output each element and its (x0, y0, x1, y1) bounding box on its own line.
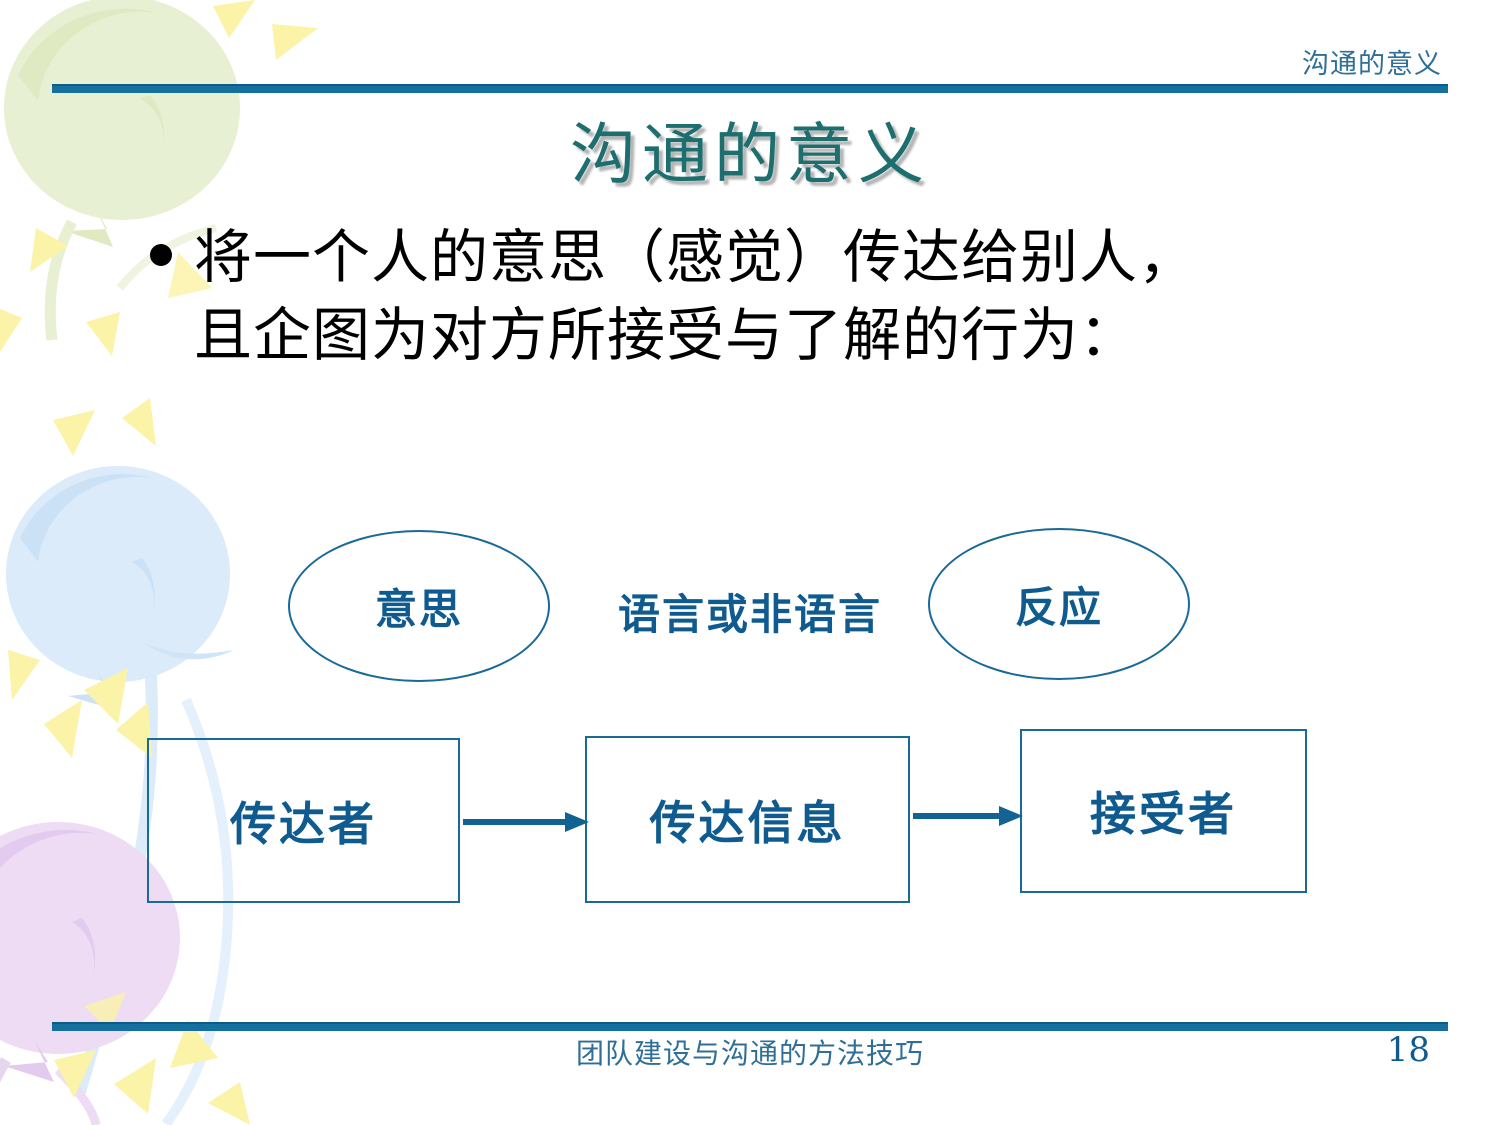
diagram-box-receiver-label: 接受者 (1090, 778, 1237, 844)
diagram-channel-label: 语言或非语言 (592, 581, 908, 642)
diagram-box-message[interactable]: 传达信息 (585, 736, 910, 903)
diagram-ellipse-meaning[interactable]: 意思 (288, 530, 550, 682)
diagram-ellipse-response-label: 反应 (1015, 574, 1103, 635)
diagram-box-sender-label: 传达者 (230, 788, 377, 854)
communication-flow-diagram: 意思 语言或非语言 反应 传达者 传达信息 接受者 (0, 0, 1500, 1125)
arrow-message-to-receiver (913, 804, 1023, 828)
diagram-box-message-label: 传达信息 (650, 787, 846, 853)
slide-page-number: 18 (1387, 1030, 1430, 1070)
slide: 沟通的意义 沟通的意义 将一个人的意思（感觉）传达给别人， 且企图为对方所接受与… (0, 0, 1500, 1125)
diagram-box-sender[interactable]: 传达者 (147, 738, 460, 903)
arrow-sender-to-message (463, 810, 589, 834)
diagram-ellipse-response[interactable]: 反应 (928, 528, 1190, 680)
diagram-box-receiver[interactable]: 接受者 (1020, 729, 1307, 893)
slide-footer-title: 团队建设与沟通的方法技巧 (0, 1032, 1500, 1072)
diagram-ellipse-meaning-label: 意思 (375, 576, 463, 637)
